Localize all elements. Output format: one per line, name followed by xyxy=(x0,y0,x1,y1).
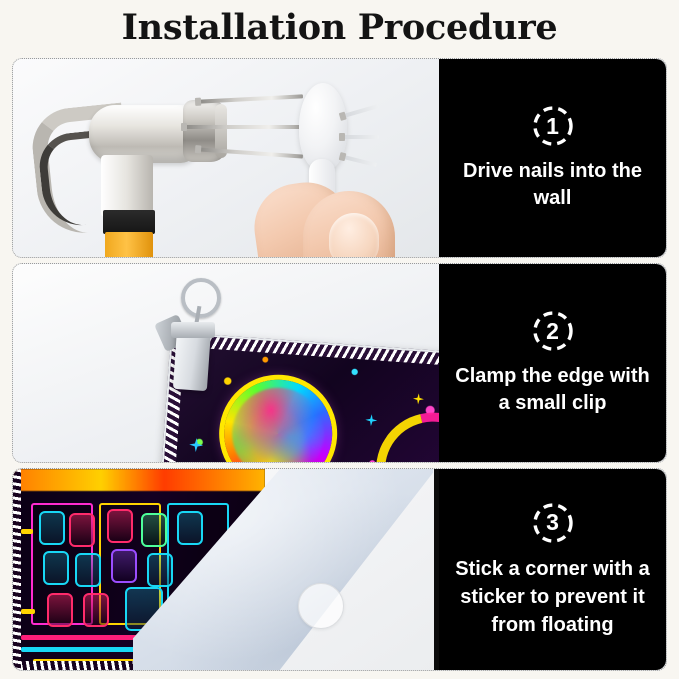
star-icon xyxy=(413,393,425,405)
binder-clip xyxy=(165,278,225,394)
mixer-bar xyxy=(21,529,33,534)
rainbow-ring xyxy=(354,391,439,462)
page-title: Installation Procedure xyxy=(0,6,679,50)
step-2-photo xyxy=(13,264,439,462)
star-icon xyxy=(365,414,378,427)
mixer-bar xyxy=(21,609,35,614)
nail-icon xyxy=(343,135,379,139)
hammer-grip xyxy=(105,232,153,257)
step-1-badge: 1 xyxy=(531,104,575,148)
step-1-text: Drive nails into the wall xyxy=(439,158,666,212)
step-3-panel: 3 Stick a corner with a sticker to preve… xyxy=(439,469,666,670)
step-3-photo xyxy=(13,469,439,670)
mixer-knob xyxy=(107,509,133,543)
step-1-photo xyxy=(13,59,439,257)
step-3-badge: 3 xyxy=(531,501,575,545)
mixer-knob xyxy=(39,511,65,545)
nail-icon xyxy=(343,104,379,118)
mixer-knob xyxy=(43,551,69,585)
step-3-text: Stick a corner with a sticker to prevent… xyxy=(439,555,666,639)
nail-hook-illustration xyxy=(247,73,397,257)
rainbow-planet xyxy=(221,376,336,462)
star-icon xyxy=(189,438,204,453)
mixer-knob xyxy=(83,593,109,627)
step-row-1: 1 Drive nails into the wall xyxy=(12,58,667,258)
step-row-3: 3 Stick a corner with a sticker to preve… xyxy=(12,468,667,671)
step-1-panel: 1 Drive nails into the wall xyxy=(439,59,666,257)
clip-ring xyxy=(181,278,221,318)
nail-icon xyxy=(185,125,305,129)
adhesive-sticker xyxy=(298,583,344,629)
mixer-knob xyxy=(141,513,167,547)
mixer-knob xyxy=(47,593,73,627)
clip-body xyxy=(173,327,211,391)
mixer-knob xyxy=(75,553,101,587)
mixer-knob xyxy=(111,549,137,583)
step-2-number: 2 xyxy=(546,320,559,343)
step-3-number: 3 xyxy=(546,511,559,534)
step-2-text: Clamp the edge with a small clip xyxy=(439,363,666,417)
step-1-number: 1 xyxy=(546,115,559,138)
mixer-knob xyxy=(69,513,95,547)
step-2-badge: 2 xyxy=(531,309,575,353)
nail-icon xyxy=(343,155,377,167)
step-row-2: 2 Clamp the edge with a small clip xyxy=(12,263,667,463)
mixer-top-glow xyxy=(13,469,265,491)
installation-procedure-page: Installation Procedure xyxy=(0,0,679,679)
mixer-knob xyxy=(177,511,203,545)
fingernail xyxy=(329,213,379,257)
step-2-panel: 2 Clamp the edge with a small clip xyxy=(439,264,666,462)
tapestry-hem-left xyxy=(13,469,21,670)
hammer-collar xyxy=(103,210,155,234)
mixer-knob xyxy=(147,553,173,587)
hammer-neck xyxy=(101,155,153,217)
